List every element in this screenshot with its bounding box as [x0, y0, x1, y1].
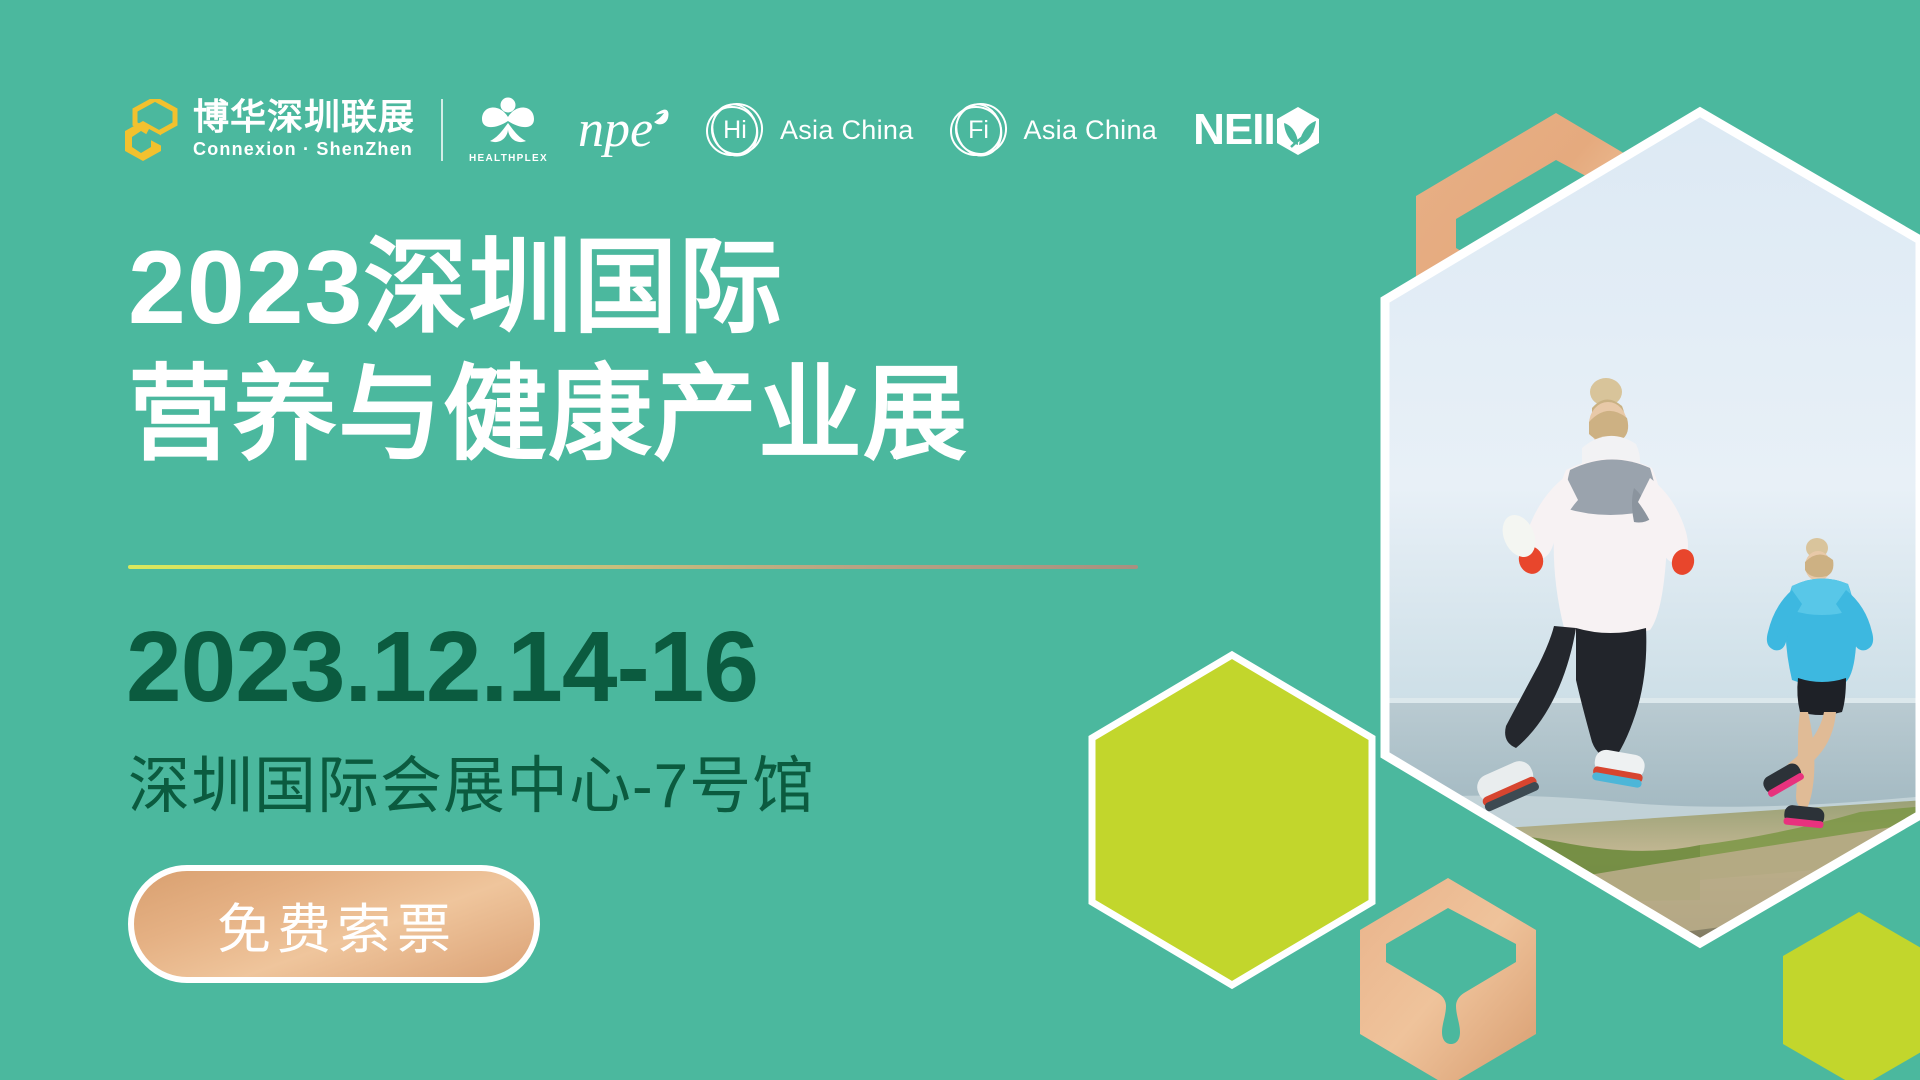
runner-foreground — [1473, 378, 1697, 813]
jogging-photo — [1385, 100, 1920, 960]
butterfly-icon — [478, 97, 538, 150]
lime-hexagon-small — [1783, 912, 1920, 1080]
organizer-name-cn: 博华深圳联展 — [193, 98, 415, 136]
section-divider — [128, 565, 1138, 569]
logo-bar: 博华深圳联展 Connexion · ShenZhen HEALTHPLEX n… — [125, 90, 1325, 170]
page-title: 2023深圳国际 营养与健康产业展 — [128, 225, 968, 479]
partner-healthplex[interactable]: HEALTHPLEX — [469, 97, 548, 164]
honey-drop-hexagon-large — [1416, 113, 1696, 445]
event-venue: 深圳国际会展中心-7号馆 — [128, 735, 815, 825]
neii-wordmark: NEII — [1193, 105, 1275, 155]
partner-healthplex-label: HEALTHPLEX — [469, 153, 548, 164]
free-ticket-button-label: 免费索票 — [211, 885, 457, 964]
npe-wordmark-icon: npe — [578, 100, 670, 160]
svg-text:npe: npe — [578, 101, 653, 158]
free-ticket-button[interactable]: 免费索票 — [128, 865, 540, 983]
partner-neii[interactable]: NEII — [1193, 101, 1325, 159]
poster-canvas: 博华深圳联展 Connexion · ShenZhen HEALTHPLEX n… — [0, 0, 1920, 1080]
hi-asia-china-label: Asia China — [780, 115, 914, 146]
lime-hexagon-large — [1092, 655, 1372, 985]
event-date: 2023.12.14-16 — [126, 610, 758, 725]
partner-fi-asia-china[interactable]: Fi Asia China — [948, 99, 1158, 161]
organizer-logo[interactable]: 博华深圳联展 Connexion · ShenZhen — [125, 98, 415, 161]
partner-npe[interactable]: npe — [578, 100, 670, 160]
sketch-circle-icon: Fi — [948, 99, 1010, 161]
photo-hexagon-border — [1385, 112, 1920, 943]
hexagon-honeycomb-icon — [125, 99, 181, 161]
logo-divider — [441, 99, 443, 161]
headline-line-2: 营养与健康产业展 — [128, 352, 968, 479]
headline-line-1: 2023深圳国际 — [128, 225, 968, 352]
hi-badge-text: Hi — [704, 99, 766, 161]
sketch-circle-icon: Hi — [704, 99, 766, 161]
partner-hi-asia-china[interactable]: Hi Asia China — [704, 99, 914, 161]
fi-badge-text: Fi — [948, 99, 1010, 161]
organizer-name-en: Connexion · ShenZhen — [193, 138, 415, 161]
honey-drop-hexagon-small — [1360, 878, 1536, 1080]
runner-background — [1760, 538, 1873, 828]
hexagon-leaf-icon — [1271, 101, 1325, 159]
fi-asia-china-label: Asia China — [1024, 115, 1158, 146]
